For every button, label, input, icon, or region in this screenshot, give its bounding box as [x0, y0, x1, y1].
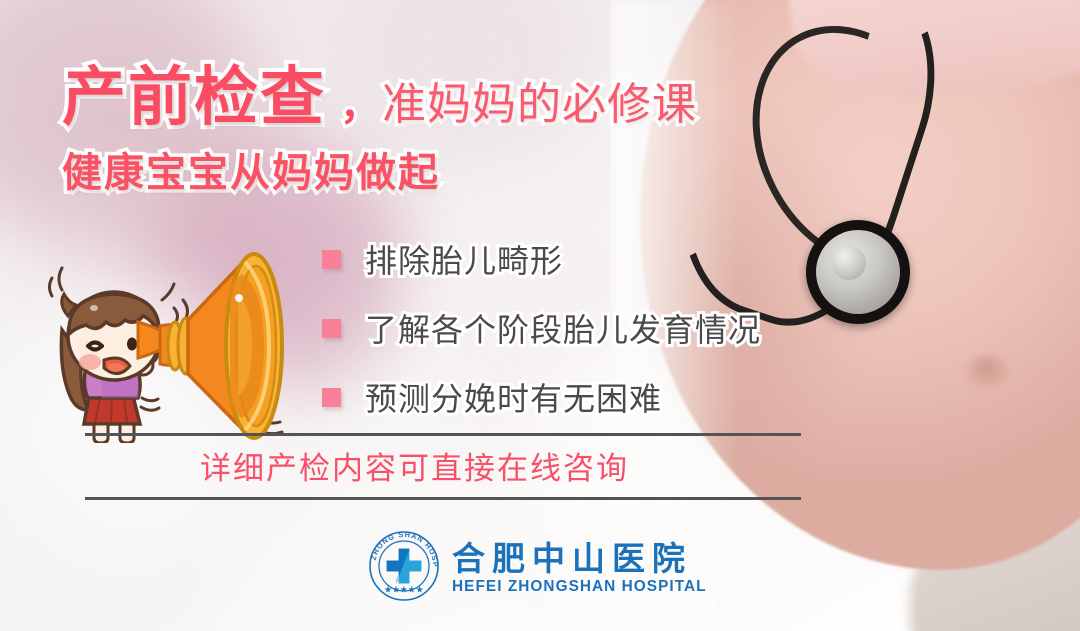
hospital-name-block: 合肥中山医院 HEFEI ZHONGSHAN HOSPITAL — [452, 541, 717, 596]
list-item: 了解各个阶段胎儿发育情况 — [322, 297, 842, 359]
headline-comma: ， — [340, 73, 380, 131]
headline-sub-text: 准妈妈的必修课 — [382, 68, 697, 132]
list-item: 预测分娩时有无困难 — [322, 366, 842, 428]
headline-primary: 产前检查 ， 准妈妈的必修课 — [62, 46, 697, 138]
prenatal-checkup-banner: 产前检查 ， 准妈妈的必修课 健康宝宝从妈妈做起 排除胎儿畸形 了解各个阶段胎儿… — [0, 0, 1080, 631]
emblem-stars: ★★★★★ — [384, 585, 424, 594]
benefit-list: 排除胎儿畸形 了解各个阶段胎儿发育情况 预测分娩时有无困难 — [322, 228, 842, 435]
cartoon-girl-with-megaphone — [42, 238, 352, 443]
list-item-label: 预测分娩时有无困难 — [365, 374, 662, 420]
divider-bottom — [85, 497, 801, 500]
hospital-name-en: HEFEI ZHONGSHAN HOSPITAL — [452, 578, 707, 596]
navel — [965, 355, 1009, 389]
hospital-emblem-icon: ZHONG SHAN HOSPITAL ★★★★★ — [368, 530, 440, 607]
headline-main-text: 产前检查 — [62, 46, 326, 138]
motion-lines — [50, 268, 63, 296]
headline-secondary: 健康宝宝从妈妈做起 — [62, 140, 440, 198]
list-item: 排除胎儿畸形 — [322, 228, 842, 290]
hospital-name-cn: 合肥中山医院 — [452, 541, 717, 577]
list-item-label: 排除胎儿畸形 — [365, 236, 563, 282]
cta-text[interactable]: 详细产检内容可直接在线咨询 — [200, 443, 629, 488]
divider-top — [85, 433, 801, 436]
list-item-label: 了解各个阶段胎儿发育情况 — [365, 305, 761, 351]
hospital-logo: ZHONG SHAN HOSPITAL ★★★★★ 合肥中山医院 HEFEI Z… — [368, 530, 717, 607]
